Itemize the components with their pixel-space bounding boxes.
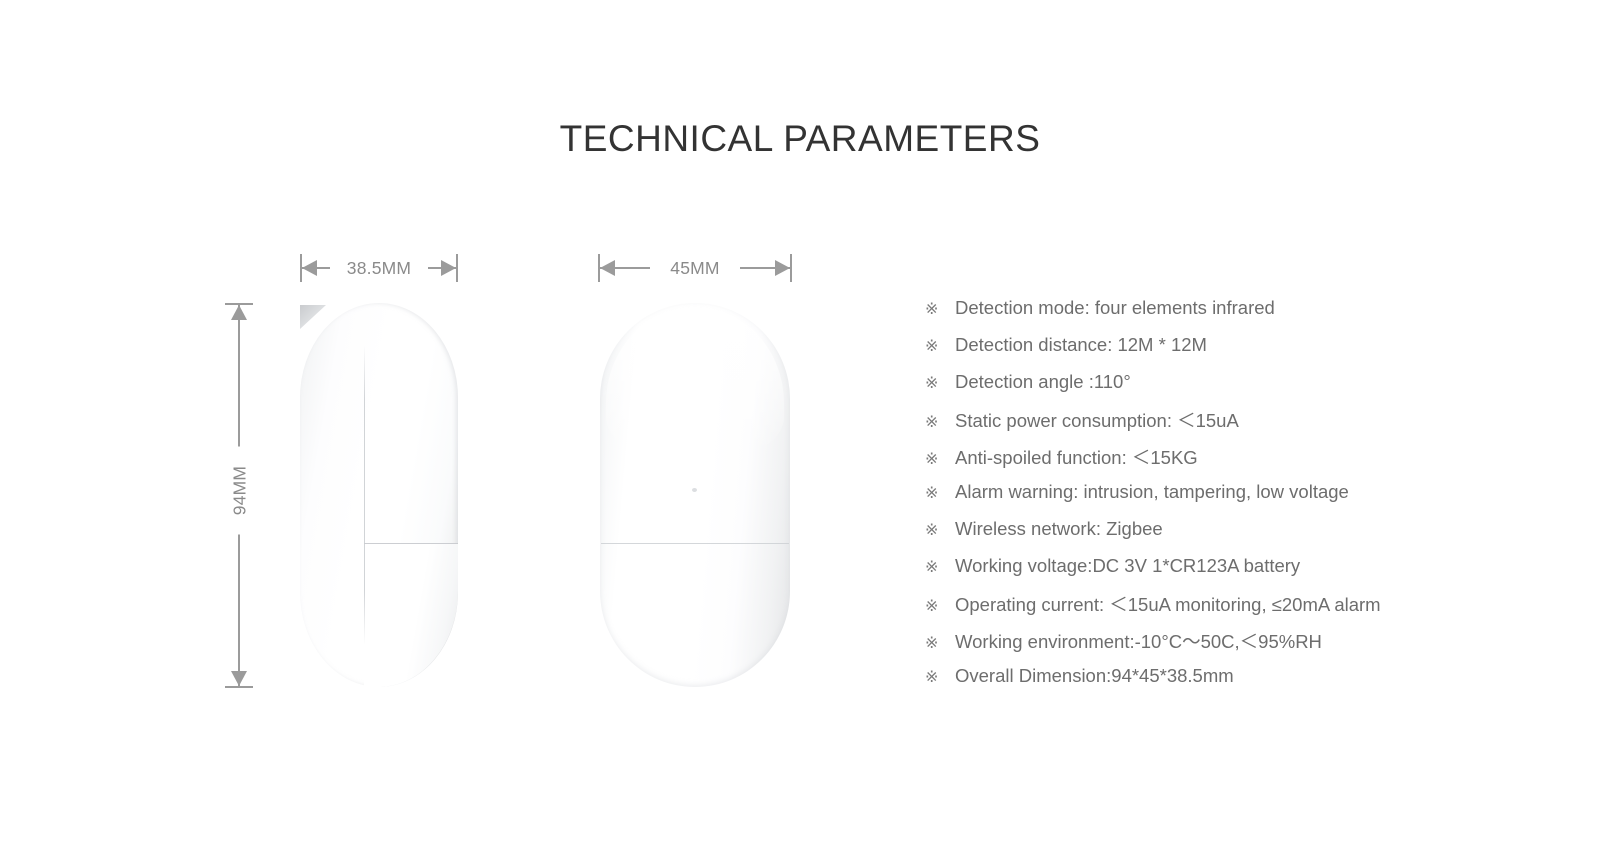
reference-mark-icon: ※ (925, 667, 955, 687)
spec-text: Wireless network: Zigbee (955, 518, 1485, 540)
reference-mark-icon: ※ (925, 373, 955, 393)
spec-text: Working environment:-10°C～50C,＜95%RH (955, 628, 1485, 654)
arrow-up-icon (231, 305, 247, 320)
list-item: ※ Alarm warning: intrusion, tampering, l… (925, 481, 1485, 518)
product-side-view (300, 303, 458, 687)
specification-list: ※ Detection mode: four elements infrared… (925, 297, 1485, 702)
reference-mark-icon: ※ (925, 520, 955, 540)
spec-text: Anti-spoiled function: ＜15KG (955, 444, 1485, 470)
dimension-label-height: 94MM (230, 447, 251, 535)
arrow-down-icon (231, 671, 247, 686)
reference-mark-icon: ※ (925, 483, 955, 503)
front-view-lens-dot (692, 488, 697, 492)
list-item: ※ Detection distance: 12M * 12M (925, 334, 1485, 371)
reference-mark-icon: ※ (925, 299, 955, 319)
arrow-left-icon (302, 260, 317, 276)
dimension-tick-right (456, 254, 458, 282)
spec-text: Operating current: ＜15uA monitoring, ≤20… (955, 591, 1485, 617)
spec-text: Overall Dimension:94*45*38.5mm (955, 665, 1485, 687)
side-view-seam-horizontal (364, 543, 458, 544)
list-item: ※ Operating current: ＜15uA monitoring, ≤… (925, 591, 1485, 628)
list-item: ※ Detection angle :110° (925, 371, 1485, 408)
side-view-seam-vertical (364, 345, 365, 645)
spec-text: Detection distance: 12M * 12M (955, 334, 1485, 356)
list-item: ※ Working environment:-10°C～50C,＜95%RH (925, 628, 1485, 665)
technical-parameters-page: TECHNICAL PARAMETERS 38.5MM 45MM 94MM (0, 0, 1600, 848)
arrow-left-icon (600, 260, 615, 276)
product-front-view (600, 303, 790, 687)
side-view-lower-section (364, 544, 458, 687)
reference-mark-icon: ※ (925, 412, 955, 432)
front-view-seam-horizontal (601, 543, 789, 544)
dimension-label-side-width: 38.5MM (330, 258, 428, 279)
dimension-label-front-width: 45MM (650, 258, 740, 279)
spec-text: Detection mode: four elements infrared (955, 297, 1485, 319)
spec-text: Alarm warning: intrusion, tampering, low… (955, 481, 1485, 503)
dimension-tick-bottom (225, 686, 253, 688)
list-item: ※ Working voltage:DC 3V 1*CR123A battery (925, 555, 1485, 592)
spec-text: Static power consumption: ＜15uA (955, 407, 1485, 433)
reference-mark-icon: ※ (925, 557, 955, 577)
reference-mark-icon: ※ (925, 449, 955, 469)
side-view-mount-notch (300, 305, 326, 329)
reference-mark-icon: ※ (925, 633, 955, 653)
reference-mark-icon: ※ (925, 596, 955, 616)
list-item: ※ Wireless network: Zigbee (925, 518, 1485, 555)
list-item: ※ Detection mode: four elements infrared (925, 297, 1485, 334)
reference-mark-icon: ※ (925, 336, 955, 356)
spec-text: Working voltage:DC 3V 1*CR123A battery (955, 555, 1485, 577)
page-title: TECHNICAL PARAMETERS (0, 118, 1600, 160)
list-item: ※ Anti-spoiled function: ＜15KG (925, 444, 1485, 481)
spec-text: Detection angle :110° (955, 371, 1485, 393)
arrow-right-icon (441, 260, 456, 276)
arrow-right-icon (775, 260, 790, 276)
list-item: ※ Overall Dimension:94*45*38.5mm (925, 665, 1485, 702)
dimension-tick-right (790, 254, 792, 282)
list-item: ※ Static power consumption: ＜15uA (925, 407, 1485, 444)
